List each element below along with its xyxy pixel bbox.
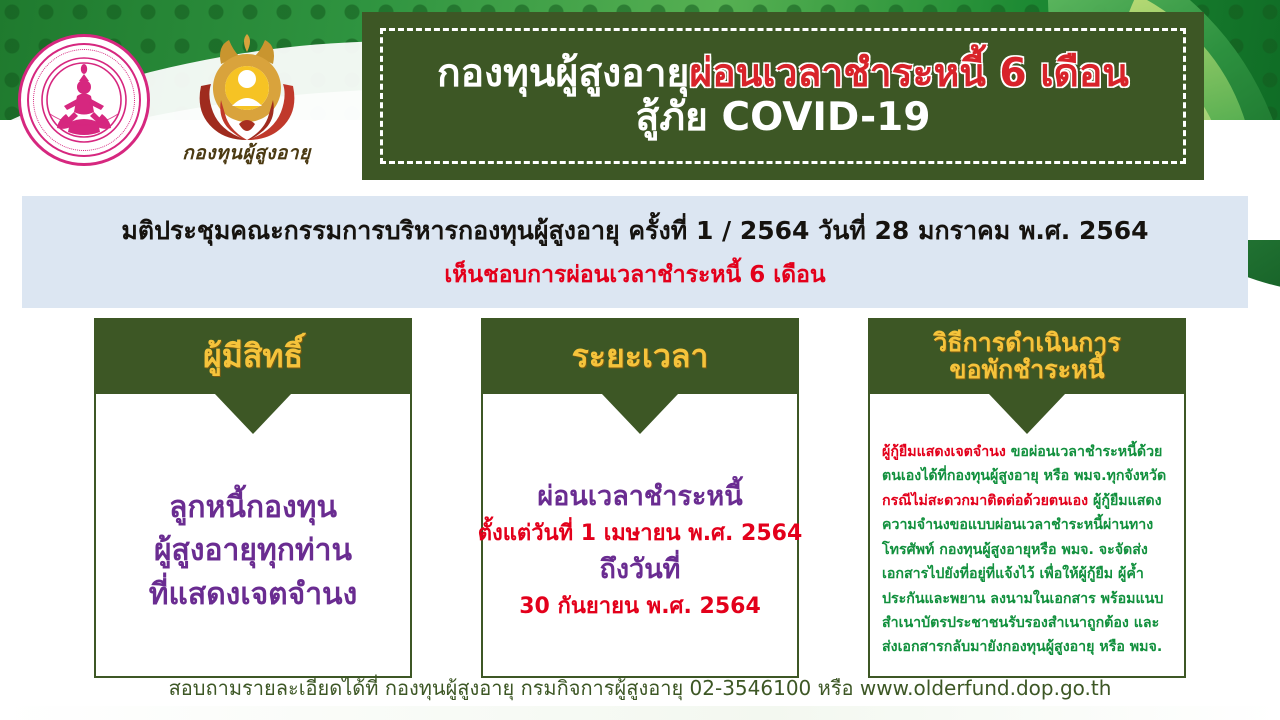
card-period-line-1: ผ่อนเวลาชำระหนี้ [537, 478, 742, 516]
card-procedure-segment-1: ผู้กู้ยืมแสดงเจตจำนง [882, 444, 1011, 460]
title-dashed-frame: กองทุนผู้สูงอายุผ่อนเวลาชำระหนี้ 6 เดือน… [380, 28, 1186, 164]
ministry-seal-icon [18, 34, 150, 166]
background-bottom-strip [0, 706, 1280, 720]
card-procedure-header-line-1: วิธีการดำเนินการ [933, 329, 1121, 356]
card-eligible-header-text: ผู้มีสิทธิ์ [203, 339, 303, 374]
card-period-line-3: ถึงวันที่ [600, 551, 681, 589]
resolution-banner: มติประชุมคณะกรรมการบริหารกองทุนผู้สูงอาย… [22, 196, 1248, 308]
card-procedure-segment-3: กรณีไม่สะดวกมาติดต่อด้วยตนเอง [882, 493, 1093, 509]
title-banner: กองทุนผู้สูงอายุผ่อนเวลาชำระหนี้ 6 เดือน… [362, 12, 1204, 180]
card-procedure-header: วิธีการดำเนินการ ขอพักชำระหนี้ [868, 318, 1186, 394]
logo-group: กองทุนผู้สูงอายุ [18, 34, 348, 194]
title-line-1-white: กองทุนผู้สูงอายุ [437, 51, 689, 96]
card-procedure-segment-4: ผู้กู้ยืมแสดงความจำนงขอแบบผ่อนเวลาชำระหน… [882, 493, 1163, 656]
poster-root: กองทุนผู้สูงอายุ กองทุนผู้สูงอายุผ่อนเวล… [0, 0, 1280, 720]
footer-contact-text: สอบถามรายละเอียดได้ที่ กองทุนผู้สูงอายุ … [0, 672, 1280, 704]
card-procedure-notch-icon [989, 394, 1065, 434]
card-eligible: ผู้มีสิทธิ์ ลูกหนี้กองทุน ผู้สูงอายุทุกท… [94, 318, 412, 678]
fund-logo-wordmark: กองทุนผู้สูงอายุ [182, 138, 310, 168]
title-line-1-red: ผ่อนเวลาชำระหนี้ 6 เดือน [689, 51, 1129, 96]
card-eligible-line-3: ที่แสดงเจตจำนง [149, 573, 357, 617]
card-eligible-line-1: ลูกหนี้กองทุน [169, 486, 337, 530]
card-procedure: วิธีการดำเนินการ ขอพักชำระหนี้ ผู้กู้ยืม… [868, 318, 1186, 678]
card-procedure-header-line-2: ขอพักชำระหนี้ [933, 356, 1121, 383]
card-period: ระยะเวลา ผ่อนเวลาชำระหนี้ ตั้งแต่วันที่ … [481, 318, 799, 678]
resolution-sub-text: เห็นชอบการผ่อนเวลาชำระหนี้ 6 เดือน [444, 257, 825, 293]
card-eligible-notch-icon [215, 394, 291, 434]
card-period-body: ผ่อนเวลาชำระหนี้ ตั้งแต่วันที่ 1 เมษายน … [481, 394, 799, 678]
card-eligible-header: ผู้มีสิทธิ์ [94, 318, 412, 394]
resolution-main-text: มติประชุมคณะกรรมการบริหารกองทุนผู้สูงอาย… [121, 211, 1148, 251]
card-period-header: ระยะเวลา [481, 318, 799, 394]
card-period-line-4: 30 กันยายน พ.ศ. 2564 [519, 589, 761, 624]
card-procedure-header-text: วิธีการดำเนินการ ขอพักชำระหนี้ [933, 329, 1121, 383]
older-persons-fund-logo: กองทุนผู้สูงอายุ [164, 34, 329, 184]
card-period-line-2: ตั้งแต่วันที่ 1 เมษายน พ.ศ. 2564 [478, 516, 803, 551]
card-period-header-text: ระยะเวลา [572, 339, 709, 374]
card-period-notch-icon [602, 394, 678, 434]
title-line-1: กองทุนผู้สูงอายุผ่อนเวลาชำระหนี้ 6 เดือน [437, 52, 1129, 96]
card-procedure-body: ผู้กู้ยืมแสดงเจตจำนง ขอผ่อนเวลาชำระหนี้ด… [868, 394, 1186, 678]
card-eligible-body: ลูกหนี้กองทุน ผู้สูงอายุทุกท่าน ที่แสดงเ… [94, 394, 412, 678]
title-line-2: สู้ภัย COVID-19 [636, 96, 931, 140]
card-eligible-line-2: ผู้สูงอายุทุกท่าน [154, 529, 352, 573]
card-group: ผู้มีสิทธิ์ ลูกหนี้กองทุน ผู้สูงอายุทุกท… [0, 318, 1280, 678]
card-procedure-paragraph: ผู้กู้ยืมแสดงเจตจำนง ขอผ่อนเวลาชำระหนี้ด… [882, 440, 1172, 660]
